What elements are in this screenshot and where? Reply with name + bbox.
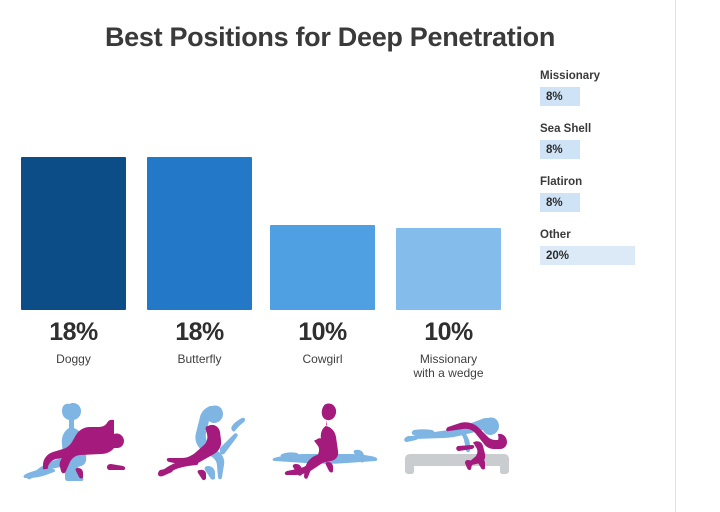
butterfly-position-illustration [148,392,268,484]
bar-doggy [21,157,126,310]
side-label-missionary: Missionary [540,70,670,82]
side-label-sea-shell: Sea Shell [540,123,670,135]
bar-label-line-2: with a wedge [396,366,501,380]
bar-label-butterfly: Butterfly [147,352,252,366]
infographic-canvas: Best Positions for Deep Penetration 18% … [0,0,720,512]
missionary-wedge-position-illustration [392,392,512,484]
side-label-flatiron: Flatiron [540,176,670,188]
secondary-bar-list: Missionary 8% Sea Shell 8% Flatiron 8% O… [540,70,670,282]
side-value-sea-shell: 8% [546,144,563,156]
side-label-other: Other [540,229,670,241]
list-item-sea-shell: Sea Shell 8% [540,123,670,159]
bar-label-line-1: Missionary [396,352,501,366]
bar-label-cowgirl: Cowgirl [270,352,375,366]
side-value-missionary: 8% [546,91,563,103]
side-bar-flatiron: 8% [540,193,580,212]
wedge-shape [405,454,509,474]
doggy-position-illustration [14,392,134,484]
bar-label-missionary-wedge: Missionary with a wedge [396,352,501,380]
side-value-other: 20% [546,250,569,262]
bar-cowgirl [270,225,375,310]
list-item-other: Other 20% [540,229,670,265]
side-bar-other: 20% [540,246,635,265]
right-divider [675,0,676,512]
position-illustrations [0,392,520,492]
list-item-flatiron: Flatiron 8% [540,176,670,212]
side-bar-sea-shell: 8% [540,140,580,159]
bar-value-butterfly: 18% [147,318,252,347]
bar-missionary-wedge [396,228,501,310]
list-item-missionary: Missionary 8% [540,70,670,106]
bar-value-cowgirl: 10% [270,318,375,347]
cowgirl-position-illustration [268,392,388,484]
bar-value-missionary-wedge: 10% [396,318,501,347]
side-bar-missionary: 8% [540,87,580,106]
bar-butterfly [147,157,252,310]
bar-value-doggy: 18% [21,318,126,347]
bar-label-doggy: Doggy [21,352,126,366]
side-value-flatiron: 8% [546,197,563,209]
